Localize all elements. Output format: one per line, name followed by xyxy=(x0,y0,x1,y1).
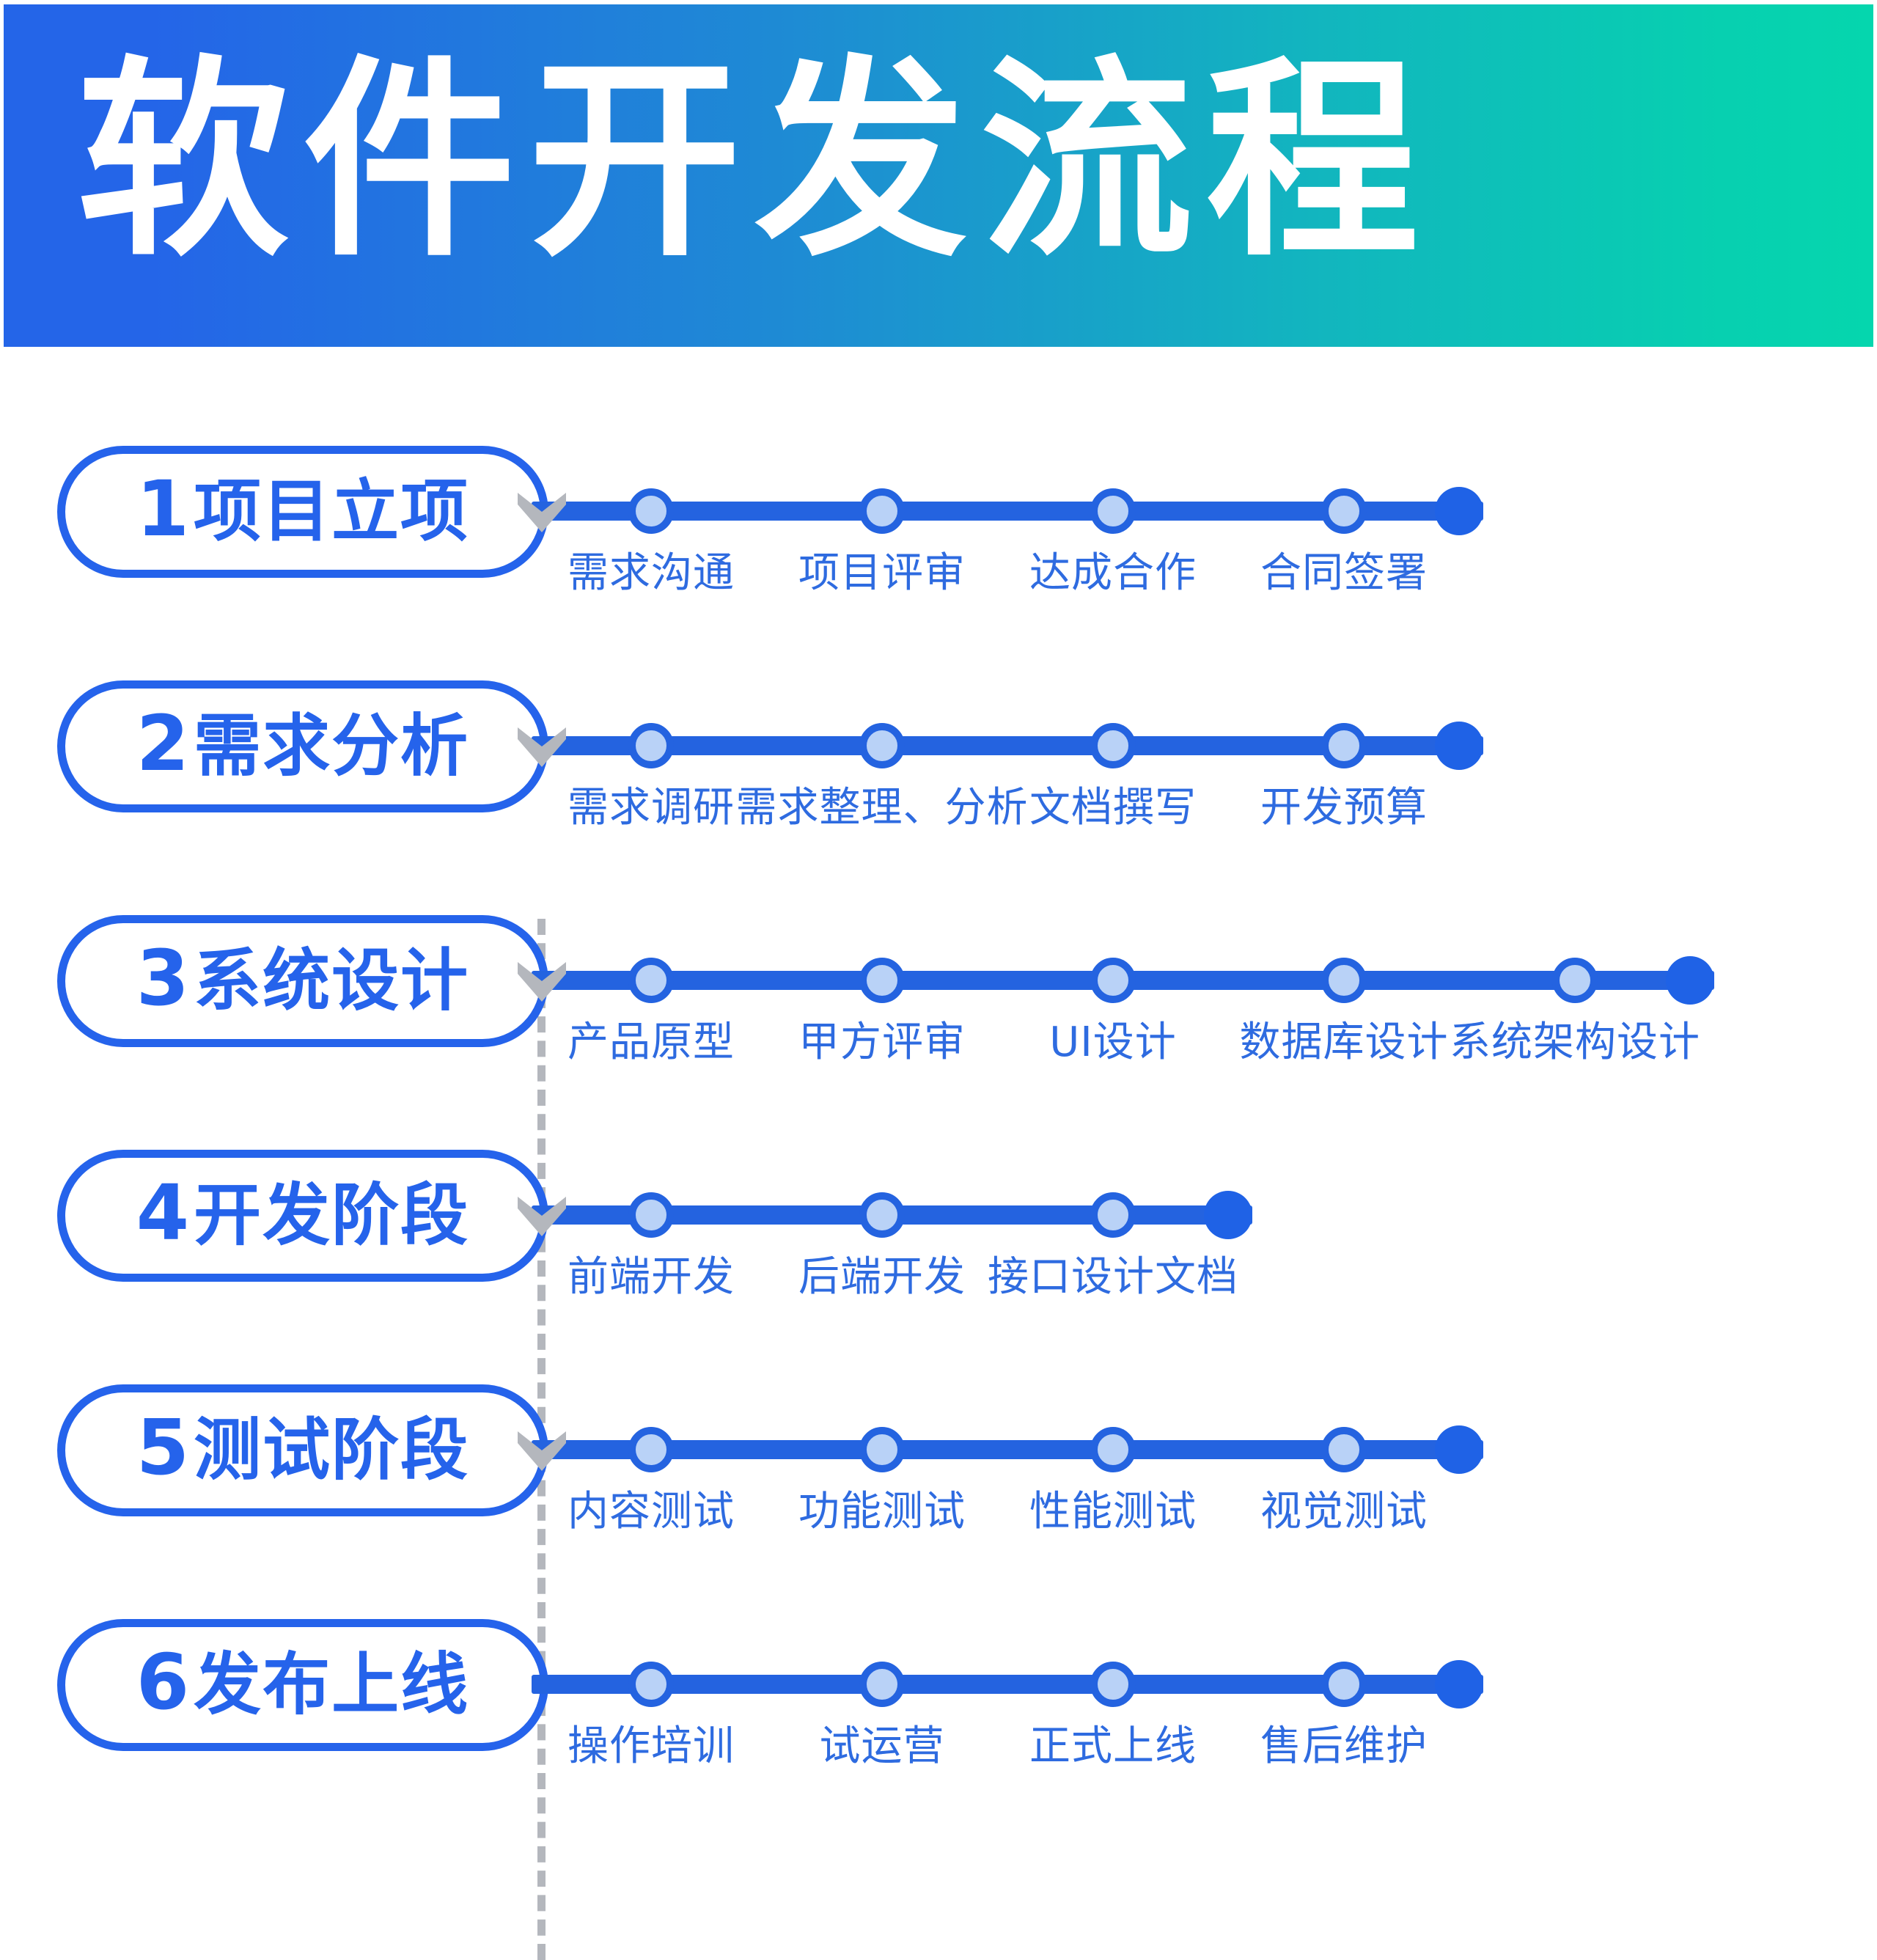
track-endcap xyxy=(1435,487,1483,535)
chevron-down-icon xyxy=(516,1428,567,1474)
step-label: 需求沟通 xyxy=(567,540,735,599)
stage-name: 发布上线 xyxy=(194,1651,469,1719)
step-node[interactable] xyxy=(859,1192,905,1238)
step-node[interactable] xyxy=(628,1427,674,1472)
stage-pill-2[interactable]: 2需求分析 xyxy=(57,680,548,812)
step-label: 开发预算 xyxy=(1260,774,1428,834)
step-label: UI设计 xyxy=(1049,1009,1177,1068)
step-label: 项目评审 xyxy=(798,540,966,599)
step-label: 后端开发 xyxy=(798,1244,966,1303)
stage-number: 1 xyxy=(136,471,189,547)
step-label: 需求整理、分析 xyxy=(736,774,1029,834)
step-node[interactable] xyxy=(628,1662,674,1707)
stage-name: 开发阶段 xyxy=(194,1182,469,1249)
step-label: 产品原型 xyxy=(567,1009,735,1068)
stage-pill-4[interactable]: 4开发阶段 xyxy=(57,1150,548,1282)
flow-board: 1项目立项需求沟通项目评审达成合作合同签署2需求分析需求调研需求整理、分析文档撰… xyxy=(0,347,1877,1855)
step-node[interactable] xyxy=(1321,1662,1367,1707)
step-node[interactable] xyxy=(1090,488,1136,534)
step-label: 售后维护 xyxy=(1260,1713,1428,1772)
stage-name: 测试阶段 xyxy=(194,1417,469,1484)
stage-name: 系统设计 xyxy=(194,947,469,1015)
stage-number: 4 xyxy=(136,1175,189,1251)
stage-row: 2需求分析需求调研需求整理、分析文档撰写开发预算 xyxy=(0,680,1877,864)
step-node[interactable] xyxy=(1090,723,1136,768)
chevron-down-icon xyxy=(516,1194,567,1239)
stage-number: 2 xyxy=(136,705,189,782)
stage-name: 需求分析 xyxy=(194,713,469,780)
step-label: 甲方评审 xyxy=(798,1009,966,1068)
step-node[interactable] xyxy=(1090,1662,1136,1707)
step-node[interactable] xyxy=(859,488,905,534)
step-label: 接口设计文档 xyxy=(988,1244,1238,1303)
step-label: 视觉测试 xyxy=(1260,1478,1428,1538)
stage-name: 项目立项 xyxy=(194,478,469,546)
track-endcap xyxy=(1435,722,1483,770)
stage-pill-1[interactable]: 1项目立项 xyxy=(57,446,548,578)
stage-row: 6发布上线操作培训试运营正式上线售后维护 xyxy=(0,1619,1877,1802)
step-label: 文档撰写 xyxy=(1029,774,1197,834)
chevron-down-icon xyxy=(516,959,567,1005)
step-label: 前端开发 xyxy=(567,1244,735,1303)
stage-number: 3 xyxy=(136,940,189,1016)
step-label: 正式上线 xyxy=(1029,1713,1197,1772)
step-label: 功能测试 xyxy=(798,1478,966,1538)
stage-row: 1项目立项需求沟通项目评审达成合作合同签署 xyxy=(0,446,1877,629)
track-endcap xyxy=(1666,956,1714,1005)
step-node[interactable] xyxy=(1321,488,1367,534)
stage-pill-5[interactable]: 5测试阶段 xyxy=(57,1384,548,1516)
track-endcap xyxy=(1204,1191,1252,1239)
step-node[interactable] xyxy=(1090,1427,1136,1472)
step-label: 系统架构设计 xyxy=(1450,1009,1700,1068)
step-node[interactable] xyxy=(859,1662,905,1707)
chevron-down-icon xyxy=(516,724,567,770)
step-node[interactable] xyxy=(628,1192,674,1238)
stage-number: 5 xyxy=(136,1409,189,1486)
step-label: 操作培训 xyxy=(567,1713,735,1772)
track-endcap xyxy=(1435,1660,1483,1708)
chevron-down-icon xyxy=(516,490,567,535)
step-label: 需求调研 xyxy=(567,774,735,834)
stage-pill-3[interactable]: 3系统设计 xyxy=(57,915,548,1047)
track-endcap xyxy=(1435,1425,1483,1474)
step-node[interactable] xyxy=(628,488,674,534)
step-label: 性能测试 xyxy=(1029,1478,1197,1538)
step-node[interactable] xyxy=(859,958,905,1003)
step-node[interactable] xyxy=(628,723,674,768)
step-label: 内容测试 xyxy=(567,1478,735,1538)
stage-row: 3系统设计产品原型甲方评审UI设计数据库设计系统架构设计 xyxy=(0,915,1877,1098)
stage-number: 6 xyxy=(136,1644,189,1720)
step-node[interactable] xyxy=(1321,958,1367,1003)
step-node[interactable] xyxy=(1090,958,1136,1003)
stage-row: 5测试阶段内容测试功能测试性能测试视觉测试 xyxy=(0,1384,1877,1568)
step-node[interactable] xyxy=(859,1427,905,1472)
page-title: 软件开发流程 xyxy=(77,41,1432,283)
step-node[interactable] xyxy=(1321,723,1367,768)
step-label: 达成合作 xyxy=(1029,540,1197,599)
stage-pill-6[interactable]: 6发布上线 xyxy=(57,1619,548,1751)
step-node[interactable] xyxy=(1090,1192,1136,1238)
step-node[interactable] xyxy=(628,958,674,1003)
step-label: 试运营 xyxy=(820,1713,945,1772)
step-node[interactable] xyxy=(859,723,905,768)
step-node[interactable] xyxy=(1321,1427,1367,1472)
step-label: 合同签署 xyxy=(1260,540,1428,599)
step-label: 数据库设计 xyxy=(1240,1009,1449,1068)
stage-row: 4开发阶段前端开发后端开发接口设计文档 xyxy=(0,1150,1877,1333)
page-header: 软件开发流程 xyxy=(4,4,1873,347)
step-node[interactable] xyxy=(1552,958,1598,1003)
